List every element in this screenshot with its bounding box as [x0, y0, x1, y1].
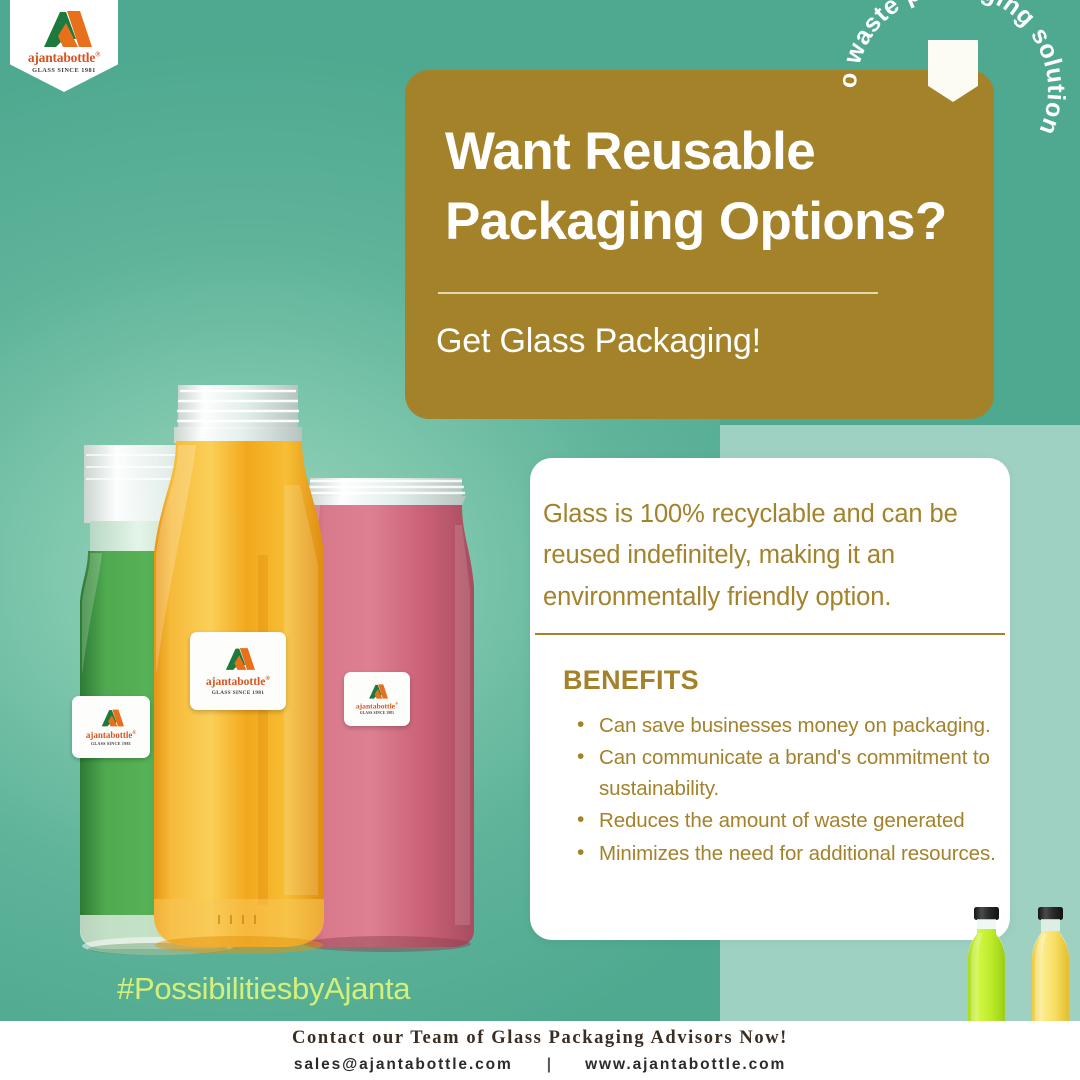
logo-wordmark: ajantabottle®: [28, 50, 100, 66]
benefits-heading: BENEFITS: [563, 665, 699, 696]
bottle-label-green: ajantabottle® GLASS SINCE 1981: [72, 696, 150, 758]
zero-waste-seal: zero waste packaging solution: [836, 0, 1068, 206]
footer-contact-bar: Contact our Team of Glass Packaging Advi…: [0, 1021, 1080, 1080]
label-wordmark: ajantabottle®: [356, 702, 398, 710]
footer-email[interactable]: sales@ajantabottle.com: [294, 1056, 513, 1074]
list-item: Can save businesses money on packaging.: [575, 710, 1000, 741]
headline-divider: [438, 292, 878, 294]
recyclable-statement: Glass is 100% recyclable and can be reus…: [543, 494, 998, 618]
lime-soda-bottle: [968, 907, 1005, 1021]
label-wordmark: ajantabottle®: [86, 731, 136, 740]
footer-cta: Contact our Team of Glass Packaging Advi…: [292, 1028, 788, 1049]
benefits-list: Can save businesses money on packaging. …: [575, 710, 1000, 870]
mini-bottles-group: [955, 903, 1080, 1021]
label-tagline: GLASS SINCE 1981: [91, 742, 131, 746]
page-subtitle: Get Glass Packaging!: [436, 322, 966, 361]
ajanta-a-monogram-icon: [366, 683, 388, 700]
list-item: Reduces the amount of waste generated: [575, 805, 1000, 836]
logo-tagline: GLASS SINCE 1981: [32, 67, 96, 74]
ajanta-a-monogram-icon: [36, 9, 92, 49]
card-divider: [535, 633, 1005, 635]
bottle-label-orange: ajantabottle® GLASS SINCE 1981: [190, 632, 286, 710]
list-item: Can communicate a brand's commitment to …: [575, 742, 1000, 804]
ajanta-a-monogram-icon: [98, 708, 124, 728]
yellow-soda-bottle: [1032, 907, 1069, 1021]
footer-contact-row: sales@ajantabottle.com | www.ajantabottl…: [294, 1056, 786, 1074]
list-item: Minimizes the need for additional resour…: [575, 838, 1000, 869]
label-tagline: GLASS SINCE 1981: [360, 712, 394, 716]
poster-canvas: ajantabottle® GLASS SINCE 1981 Want Reus…: [0, 0, 1080, 1080]
footer-separator: |: [547, 1056, 551, 1074]
label-wordmark: ajantabottle®: [206, 676, 270, 688]
info-card: Glass is 100% recyclable and can be reus…: [530, 458, 1010, 940]
campaign-hashtag: #PossibilitiesbyAjanta: [117, 971, 410, 1007]
ajanta-a-monogram-icon: [221, 646, 255, 672]
label-tagline: GLASS SINCE 1981: [212, 691, 264, 696]
seal-circular-text: zero waste packaging solution: [836, 0, 1068, 206]
bottle-label-pink: ajantabottle® GLASS SINCE 1981: [344, 672, 410, 726]
footer-website[interactable]: www.ajantabottle.com: [585, 1056, 786, 1074]
